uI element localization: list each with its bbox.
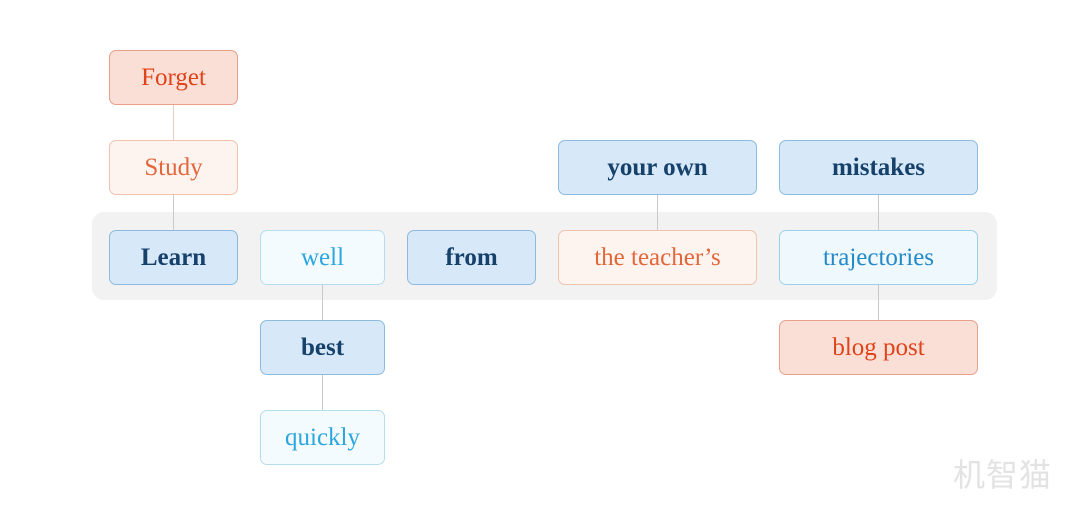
connector-mistakes-trajectories <box>878 195 879 230</box>
token-label-your-own: your own <box>607 155 707 180</box>
token-box-forget[interactable]: Forget <box>109 50 238 105</box>
token-label-best: best <box>301 335 344 360</box>
token-box-study[interactable]: Study <box>109 140 238 195</box>
connector-study-learn <box>173 195 174 230</box>
token-label-trajectories: trajectories <box>823 245 934 270</box>
token-label-quickly: quickly <box>285 425 360 450</box>
token-box-the-teachers[interactable]: the teacher’s <box>558 230 757 285</box>
token-label-study: Study <box>144 155 202 180</box>
token-box-well[interactable]: well <box>260 230 385 285</box>
token-box-blog-post[interactable]: blog post <box>779 320 978 375</box>
token-box-quickly[interactable]: quickly <box>260 410 385 465</box>
token-label-mistakes: mistakes <box>832 155 925 180</box>
token-label-forget: Forget <box>141 65 206 90</box>
token-box-your-own[interactable]: your own <box>558 140 757 195</box>
connector-forget-study <box>173 105 174 140</box>
token-box-mistakes[interactable]: mistakes <box>779 140 978 195</box>
token-label-well: well <box>301 245 344 270</box>
connector-trajectories-blog-post <box>878 285 879 320</box>
token-label-learn: Learn <box>141 245 206 270</box>
token-label-the-teachers: the teacher’s <box>594 245 721 270</box>
token-box-from[interactable]: from <box>407 230 536 285</box>
token-label-from: from <box>445 245 497 270</box>
watermark-label: 机智猫 <box>953 450 1052 496</box>
token-box-best[interactable]: best <box>260 320 385 375</box>
connector-your-own-the-teachers <box>657 195 658 230</box>
token-box-trajectories[interactable]: trajectories <box>779 230 978 285</box>
diagram-canvas: ForgetStudyyour ownmistakesLearnwellfrom… <box>0 0 1080 513</box>
token-label-blog-post: blog post <box>832 335 924 360</box>
connector-well-best <box>322 285 323 320</box>
connector-best-quickly <box>322 375 323 410</box>
token-box-learn[interactable]: Learn <box>109 230 238 285</box>
